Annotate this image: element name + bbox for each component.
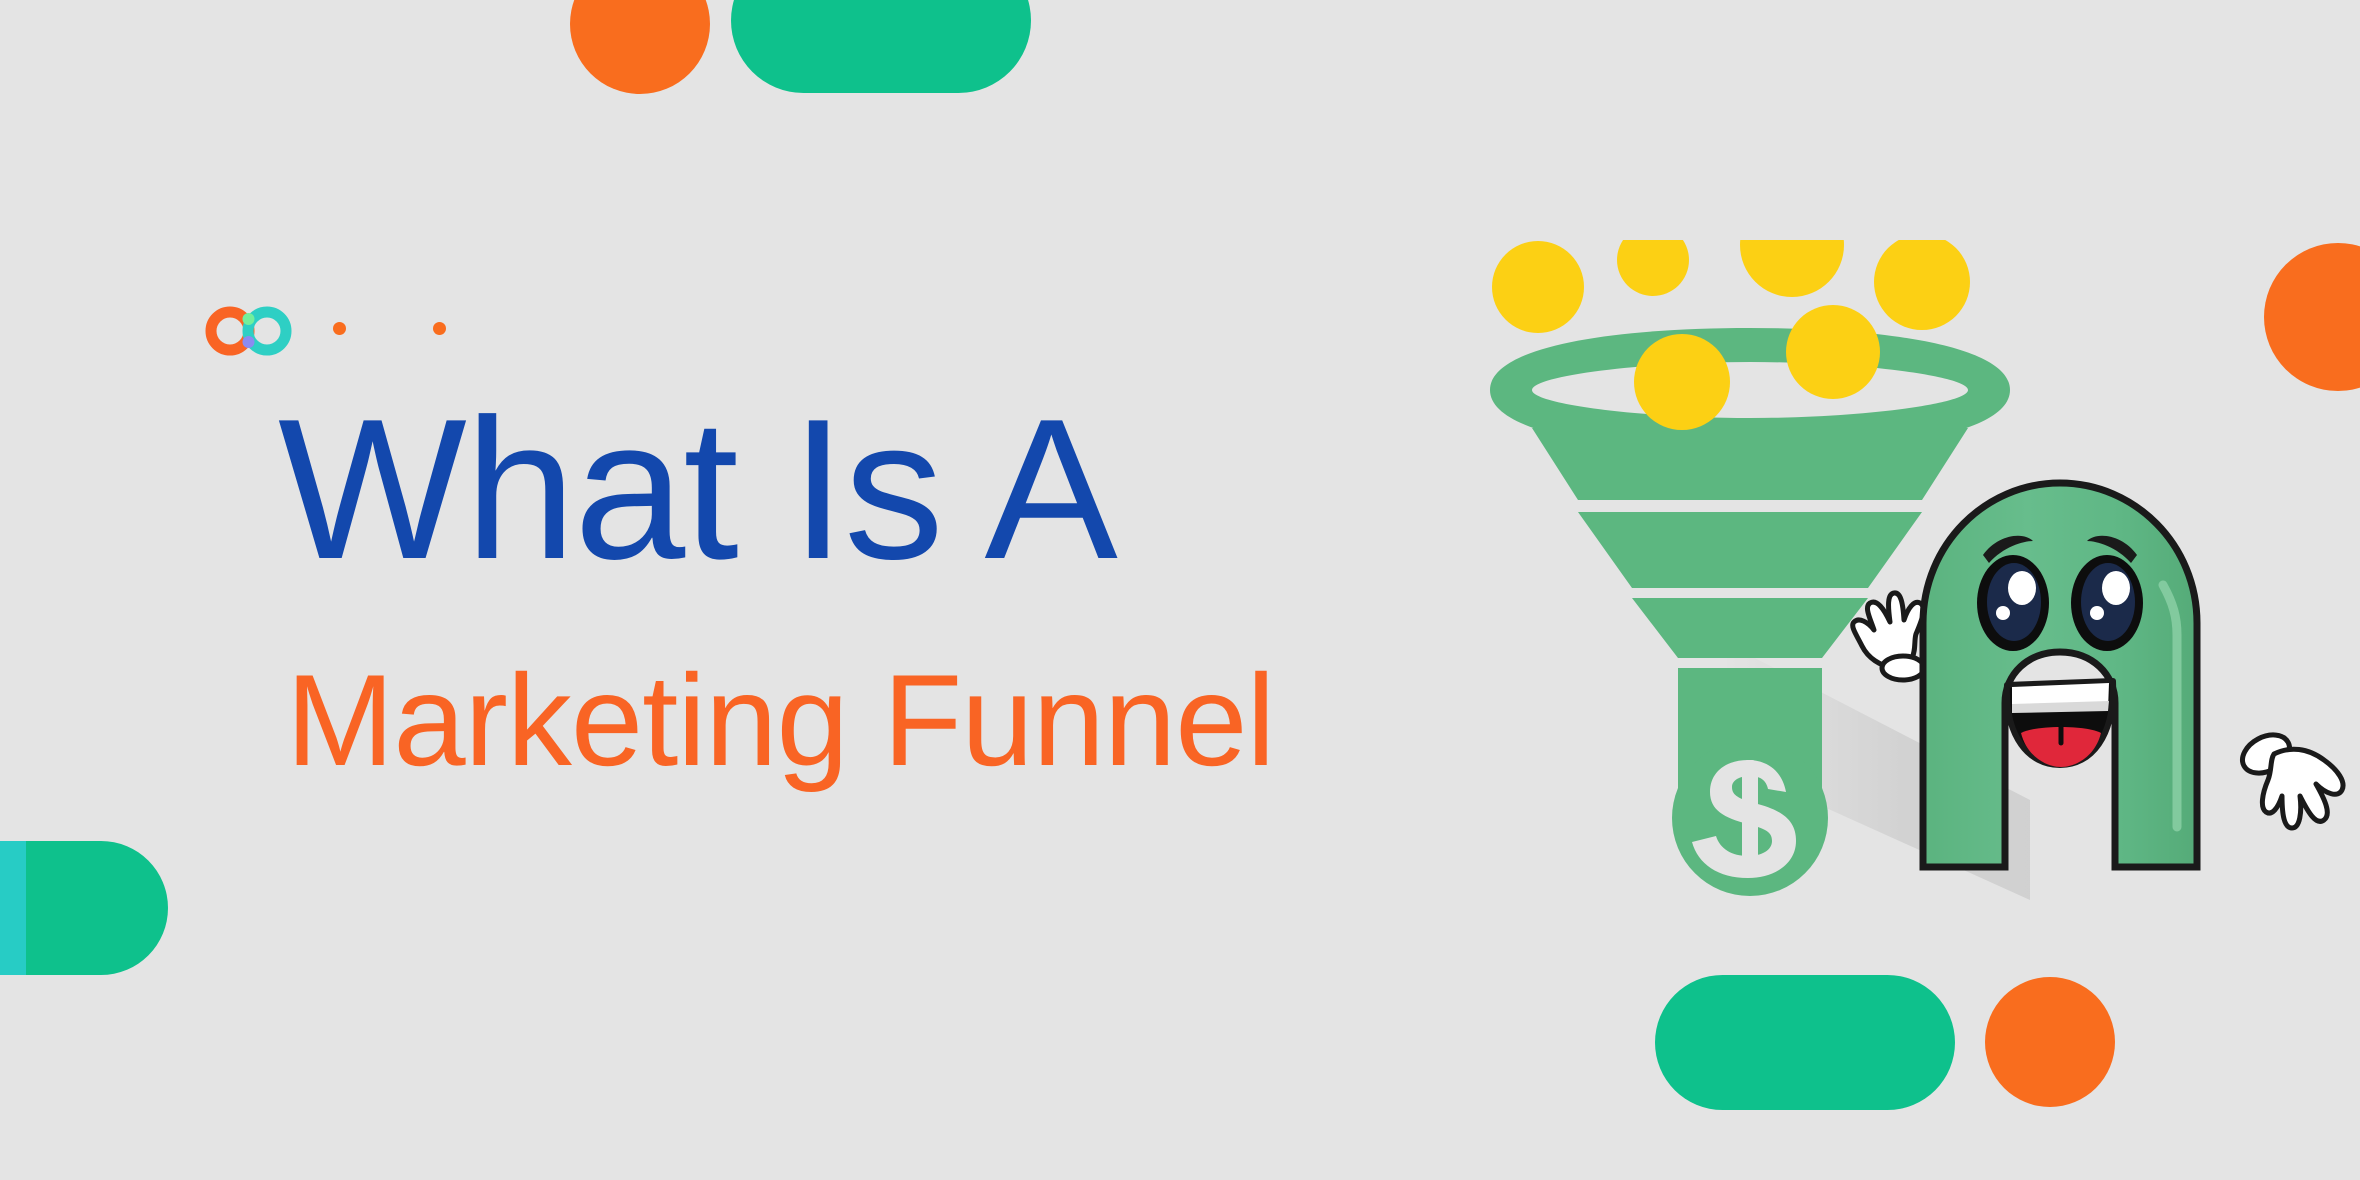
logo-svg bbox=[205, 305, 295, 357]
mascot-eye-shine-left bbox=[2008, 571, 2036, 605]
funnel-band-1 bbox=[1532, 428, 1968, 500]
decor-pill-top bbox=[731, 0, 1031, 93]
decor-pill-bottom bbox=[1655, 975, 1955, 1110]
coin-1 bbox=[1492, 241, 1584, 333]
coin-5 bbox=[1786, 305, 1880, 399]
page-subtitle: Marketing Funnel bbox=[286, 655, 1274, 785]
interlocking-rings-logo[interactable] bbox=[205, 305, 295, 357]
decor-circle-top bbox=[570, 0, 710, 94]
mascot-body bbox=[1923, 483, 2197, 867]
mascot-eye-sparkle-right bbox=[2090, 606, 2104, 620]
funnel-band-2 bbox=[1578, 512, 1922, 588]
coin-2 bbox=[1617, 240, 1689, 296]
page-title: What Is A bbox=[278, 390, 1116, 590]
waving-hand-right-icon bbox=[2238, 720, 2353, 835]
green-mascot-character[interactable] bbox=[1915, 475, 2205, 875]
funnel-band-3 bbox=[1632, 598, 1868, 658]
decor-dot-2 bbox=[433, 322, 446, 335]
decor-pill-left-edge bbox=[0, 841, 26, 975]
decor-circle-bottom bbox=[1985, 977, 2115, 1107]
coin-3 bbox=[1740, 240, 1844, 297]
mascot-eye-shine-right bbox=[2102, 571, 2130, 605]
funnel-illustration bbox=[1470, 240, 2360, 970]
coin-6 bbox=[1634, 334, 1730, 430]
mascot-eye-sparkle-left bbox=[1996, 606, 2010, 620]
coin-4 bbox=[1874, 240, 1970, 330]
decor-dot-1 bbox=[333, 322, 346, 335]
marketing-banner: What Is A Marketing Funnel bbox=[0, 0, 2360, 1180]
